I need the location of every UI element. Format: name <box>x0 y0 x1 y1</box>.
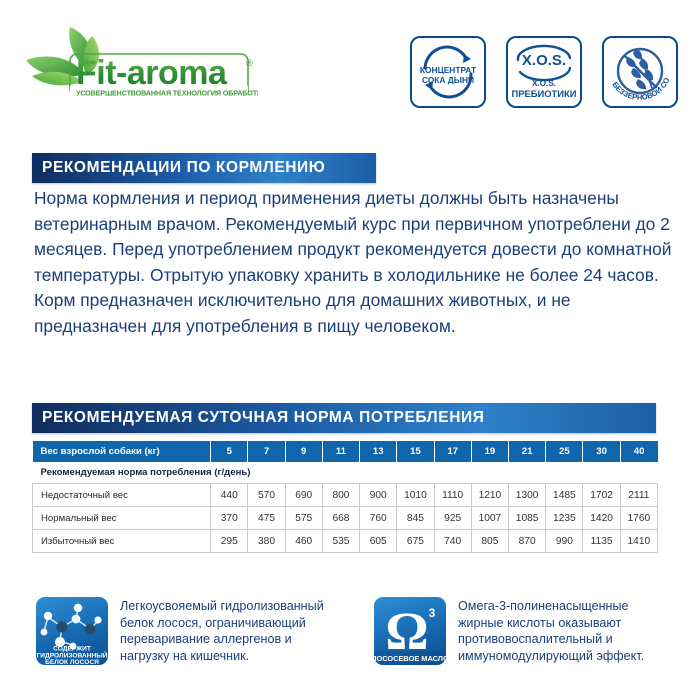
table-column-header: 30 <box>583 441 620 462</box>
badge-xos-prebiotics: X.O.S. X.O.S. ПРЕБИОТИКИ <box>506 36 582 108</box>
table-cell: 990 <box>546 530 583 553</box>
certification-badges: КОНЦЕНТРАТ СОКА ДЫНИ X.O.S. X.O.S. ПРЕБИ… <box>410 36 678 108</box>
table-cell: 380 <box>248 530 285 553</box>
svg-text:ПРЕБИОТИКИ: ПРЕБИОТИКИ <box>512 88 577 99</box>
table-row: Избыточный вес29538046053560567574080587… <box>33 530 658 553</box>
icon-caption-line1: ЛОСОСЕВОЕ МАСЛО <box>374 654 446 663</box>
svg-text:X.O.S.: X.O.S. <box>532 79 556 88</box>
brand-logo: Fit-aroma ® УСОВЕРШЕНСТВОВАННАЯ ТЕХНОЛОГ… <box>18 24 258 106</box>
table-column-header: 7 <box>248 441 285 462</box>
table-cell: 900 <box>360 484 397 507</box>
table-cell: 668 <box>322 507 359 530</box>
table-row-label: Избыточный вес <box>33 530 211 553</box>
omega-icon: Ω 3 ЛОСОСЕВОЕ МАСЛО <box>374 597 446 665</box>
table-row-label: Нормальный вес <box>33 507 211 530</box>
icon-caption-line3: БЕЛОК ЛОСОСЯ <box>45 659 99 665</box>
table-row-label: Недостаточный вес <box>33 484 211 507</box>
table-row: Недостаточный вес44057069080090010101110… <box>33 484 658 507</box>
feature2-text: Омега-3-полиненасыщенные жирные кислоты … <box>458 597 674 664</box>
table-cell: 535 <box>322 530 359 553</box>
badge-melon-juice-concentrate: КОНЦЕНТРАТ СОКА ДЫНИ <box>410 36 486 108</box>
table-cell: 570 <box>248 484 285 507</box>
table-column-header: 17 <box>434 441 471 462</box>
table-cell: 1485 <box>546 484 583 507</box>
table-row: Нормальный вес37047557566876084592510071… <box>33 507 658 530</box>
table-header-row: Вес взрослой собаки (кг)5791113151719212… <box>33 441 658 462</box>
table-column-header: 13 <box>360 441 397 462</box>
table-cell: 2111 <box>620 484 657 507</box>
badge-grain-free: БЕЗЗЕРНОВОЙ СОСТАВ <box>602 36 678 108</box>
table-column-header: 5 <box>211 441 248 462</box>
table-cell: 1110 <box>434 484 471 507</box>
table-cell: 1410 <box>620 530 657 553</box>
section-header-feeding: РЕКОМЕНДАЦИИ ПО КОРМЛЕНИЮ <box>32 153 376 183</box>
table-cell: 440 <box>211 484 248 507</box>
table-cell: 1300 <box>509 484 546 507</box>
table-cell: 460 <box>285 530 322 553</box>
feature1-text: Легкоусвояемый гидролизованный белок лос… <box>120 597 336 664</box>
table-column-header: 19 <box>471 441 508 462</box>
molecule-icon: СОДЕРЖИТ ГИДРОЛИЗОВАННЫЙ БЕЛОК ЛОСОСЯ <box>36 597 108 665</box>
table-cell: 675 <box>397 530 434 553</box>
table-cell: 870 <box>509 530 546 553</box>
table-cell: 370 <box>211 507 248 530</box>
table-cell: 475 <box>248 507 285 530</box>
table-cell: 1210 <box>471 484 508 507</box>
table-cell: 605 <box>360 530 397 553</box>
table-cell: 845 <box>397 507 434 530</box>
table-cell: 690 <box>285 484 322 507</box>
table-cell: 925 <box>434 507 471 530</box>
table-cell: 760 <box>360 507 397 530</box>
header-region: Fit-aroma ® УСОВЕРШЕНСТВОВАННАЯ ТЕХНОЛОГ… <box>0 0 700 130</box>
no-grain-icon <box>618 48 662 93</box>
table-cell: 295 <box>211 530 248 553</box>
table-subtitle-label: Рекомендуемая норма потребления (г/день) <box>33 462 658 484</box>
section2-title: РЕКОМЕНДУЕМАЯ СУТОЧНАЯ НОРМА ПОТРЕБЛЕНИЯ <box>32 409 484 427</box>
table-cell: 1702 <box>583 484 620 507</box>
section-header-daily-intake: РЕКОМЕНДУЕМАЯ СУТОЧНАЯ НОРМА ПОТРЕБЛЕНИЯ <box>32 403 656 433</box>
table-column-header: 15 <box>397 441 434 462</box>
table-cell: 1420 <box>583 507 620 530</box>
omega-superscript: 3 <box>429 606 436 620</box>
table-cell: 575 <box>285 507 322 530</box>
svg-text:КОНЦЕНТРАТ: КОНЦЕНТРАТ <box>420 65 477 75</box>
table-row-header-label: Вес взрослой собаки (кг) <box>33 441 211 462</box>
table-column-header: 11 <box>322 441 359 462</box>
icon-caption-line1: СОДЕРЖИТ <box>53 646 91 653</box>
table-column-header: 25 <box>546 441 583 462</box>
table-cell: 800 <box>322 484 359 507</box>
table-column-header: 9 <box>285 441 322 462</box>
table-cell: 1760 <box>620 507 657 530</box>
feeding-instructions-text: Норма кормления и период применения диет… <box>34 186 674 340</box>
section1-title: РЕКОМЕНДАЦИИ ПО КОРМЛЕНИЮ <box>32 159 325 177</box>
table-cell: 1085 <box>509 507 546 530</box>
table-cell: 1010 <box>397 484 434 507</box>
table-cell: 805 <box>471 530 508 553</box>
table-cell: 1135 <box>583 530 620 553</box>
svg-text:®: ® <box>246 58 253 68</box>
table-cell: 1235 <box>546 507 583 530</box>
svg-text:СОКА ДЫНИ: СОКА ДЫНИ <box>422 75 474 85</box>
table-column-header: 40 <box>620 441 657 462</box>
table-subtitle-row: Рекомендуемая норма потребления (г/день) <box>33 462 658 484</box>
svg-text:X.O.S.: X.O.S. <box>522 52 566 69</box>
table-cell: 740 <box>434 530 471 553</box>
feature-omega-3-salmon-oil: Ω 3 ЛОСОСЕВОЕ МАСЛО Омега-3-полиненасыще… <box>374 597 674 665</box>
table-cell: 1007 <box>471 507 508 530</box>
feature-hydrolyzed-salmon-protein: СОДЕРЖИТ ГИДРОЛИЗОВАННЫЙ БЕЛОК ЛОСОСЯ Ле… <box>36 597 336 665</box>
logo-tagline: УСОВЕРШЕНСТВОВАННАЯ ТЕХНОЛОГИЯ ОБРАБОТКИ <box>76 89 258 98</box>
product-label-page: Fit-aroma ® УСОВЕРШЕНСТВОВАННАЯ ТЕХНОЛОГ… <box>0 0 700 700</box>
table-column-header: 21 <box>509 441 546 462</box>
daily-intake-table: Вес взрослой собаки (кг)5791113151719212… <box>32 441 658 553</box>
